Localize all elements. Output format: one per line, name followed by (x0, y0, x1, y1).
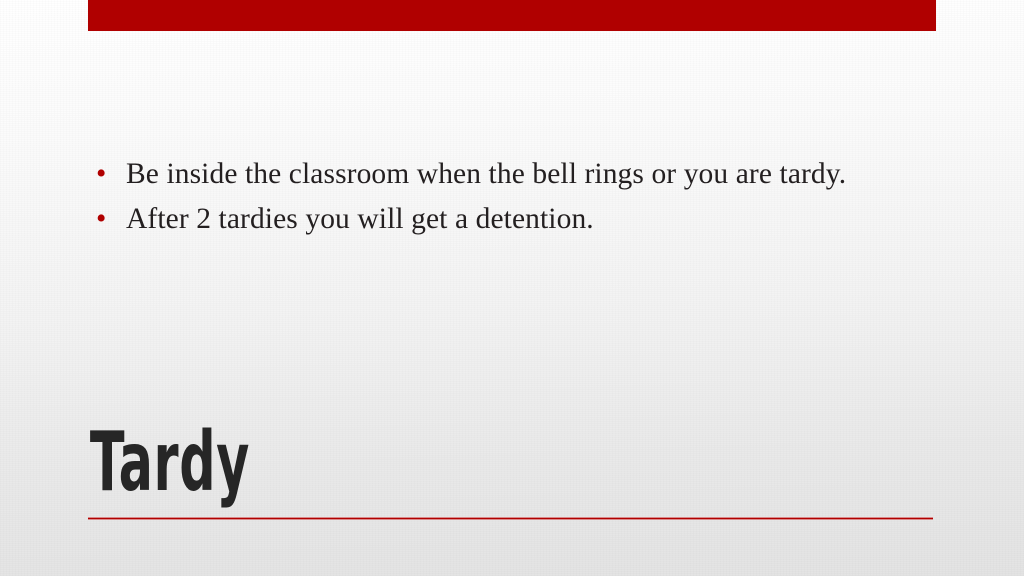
bullet-text: Be inside the classroom when the bell ri… (126, 158, 846, 190)
bullet-point-icon: • (96, 152, 106, 196)
bullet-text: After 2 tardies you will get a detention… (126, 203, 594, 235)
title-underline-rule (88, 517, 933, 520)
list-item: • Be inside the classroom when the bell … (88, 152, 928, 196)
title-block: Tardy (88, 420, 936, 506)
top-accent-bar (88, 0, 936, 31)
page-title: Tardy (88, 420, 614, 506)
body-bullet-list: • Be inside the classroom when the bell … (88, 152, 928, 242)
presentation-slide: • Be inside the classroom when the bell … (0, 0, 1024, 576)
bullet-point-icon: • (96, 197, 106, 241)
list-item: • After 2 tardies you will get a detenti… (88, 197, 928, 241)
